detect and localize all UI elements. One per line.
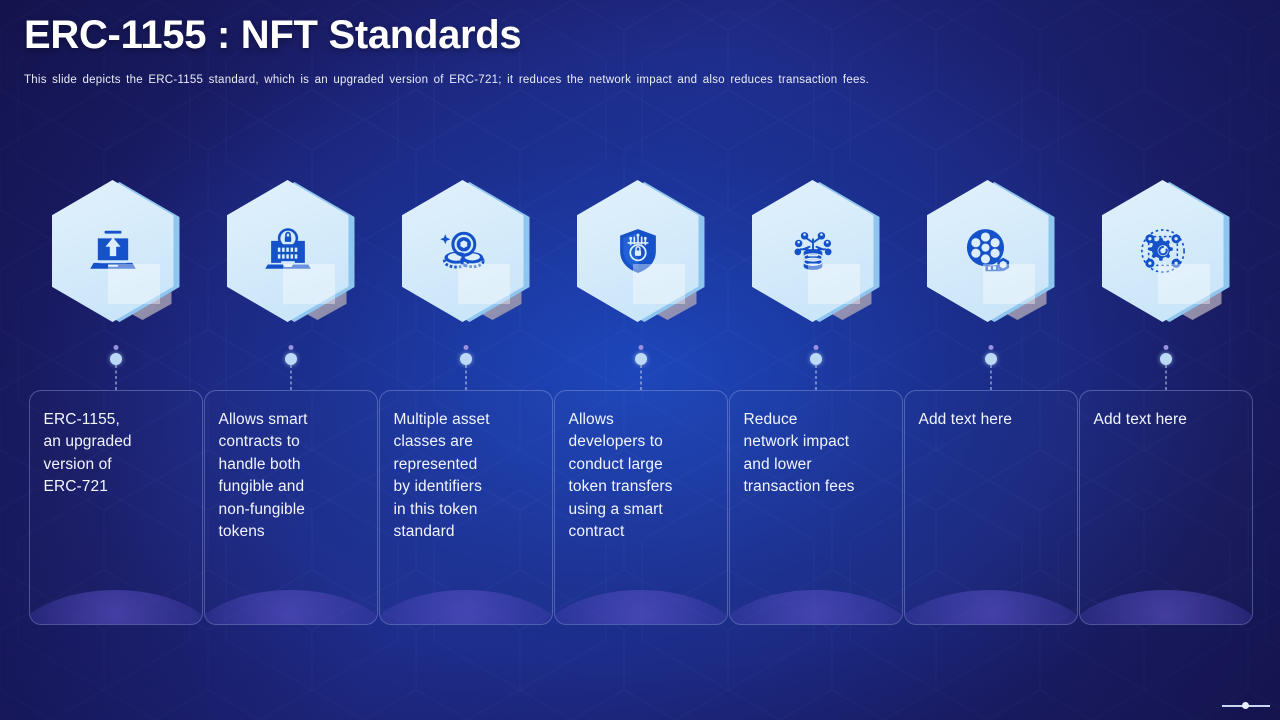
connector-dashed-line	[115, 365, 116, 390]
columns-container: ERC-1155, an upgraded version of ERC-721	[0, 0, 1280, 720]
network-database-icon	[786, 224, 840, 278]
connector-dashed-line	[290, 365, 291, 390]
slide-canvas: ERC-1155 : NFT Standards This slide depi…	[0, 0, 1280, 720]
zoom-slider[interactable]	[1222, 701, 1270, 711]
hexagon-badge-6[interactable]	[927, 178, 1055, 326]
connector-dot-large	[285, 353, 297, 365]
connector-dot-large	[460, 353, 472, 365]
info-card-7[interactable]: Add text here	[1079, 390, 1253, 625]
info-card-text: Allows developers to conduct large token…	[555, 391, 727, 543]
connector-dot-small	[288, 345, 293, 350]
hexagon-badge-3[interactable]	[402, 178, 530, 326]
card-glow	[29, 590, 203, 625]
hexagon-badge-2[interactable]	[227, 178, 355, 326]
connector-dot-large	[110, 353, 122, 365]
info-card-2[interactable]: Allows smart contracts to handle both fu…	[204, 390, 378, 625]
info-card-text: Add text here	[1080, 391, 1252, 431]
connector-dot-small	[988, 345, 993, 350]
hexagon-badge-1[interactable]	[52, 178, 180, 326]
gears-settings-icon	[1136, 224, 1190, 278]
hexagon-badge-5[interactable]	[752, 178, 880, 326]
hexagon-badge-4[interactable]	[577, 178, 705, 326]
film-reel-icon	[961, 224, 1015, 278]
binary-lock-laptop-icon	[261, 224, 315, 278]
connector-dot-large	[635, 353, 647, 365]
card-glow	[904, 590, 1078, 625]
info-card-text: Add text here	[905, 391, 1077, 431]
info-card-text: Reduce network impact and lower transact…	[730, 391, 902, 499]
shield-lock-icon	[612, 225, 664, 277]
connector-dashed-line	[465, 365, 466, 390]
info-card-3[interactable]: Multiple asset classes are represented b…	[379, 390, 553, 625]
connector-dot-large	[810, 353, 822, 365]
column-4: Allows developers to conduct large token…	[553, 0, 728, 720]
connector-dashed-line	[815, 365, 816, 390]
connector-dot-small	[463, 345, 468, 350]
card-glow	[1079, 590, 1253, 625]
column-3: Multiple asset classes are represented b…	[378, 0, 553, 720]
column-2: Allows smart contracts to handle both fu…	[203, 0, 378, 720]
column-5: Reduce network impact and lower transact…	[728, 0, 903, 720]
hexagon-badge-7[interactable]	[1102, 178, 1230, 326]
connector-dot-small	[1163, 345, 1168, 350]
info-card-text: Allows smart contracts to handle both fu…	[205, 391, 377, 543]
connector-dashed-line	[990, 365, 991, 390]
info-card-5[interactable]: Reduce network impact and lower transact…	[729, 390, 903, 625]
card-glow	[204, 590, 378, 625]
slider-knob[interactable]	[1242, 702, 1249, 709]
card-glow	[379, 590, 553, 625]
coin-stack-icon	[436, 224, 490, 278]
connector-dashed-line	[640, 365, 641, 390]
connector-dot-small	[638, 345, 643, 350]
column-6: Add text here	[903, 0, 1078, 720]
info-card-4[interactable]: Allows developers to conduct large token…	[554, 390, 728, 625]
column-7: Add text here	[1078, 0, 1253, 720]
column-1: ERC-1155, an upgraded version of ERC-721	[28, 0, 203, 720]
connector-dot-small	[113, 345, 118, 350]
card-glow	[729, 590, 903, 625]
connector-dot-large	[985, 353, 997, 365]
info-card-6[interactable]: Add text here	[904, 390, 1078, 625]
info-card-text: ERC-1155, an upgraded version of ERC-721	[30, 391, 202, 499]
info-card-text: Multiple asset classes are represented b…	[380, 391, 552, 543]
connector-dashed-line	[1165, 365, 1166, 390]
laptop-upload-icon	[86, 224, 140, 278]
connector-dot-large	[1160, 353, 1172, 365]
card-glow	[554, 590, 728, 625]
connector-dot-small	[813, 345, 818, 350]
info-card-1[interactable]: ERC-1155, an upgraded version of ERC-721	[29, 390, 203, 625]
